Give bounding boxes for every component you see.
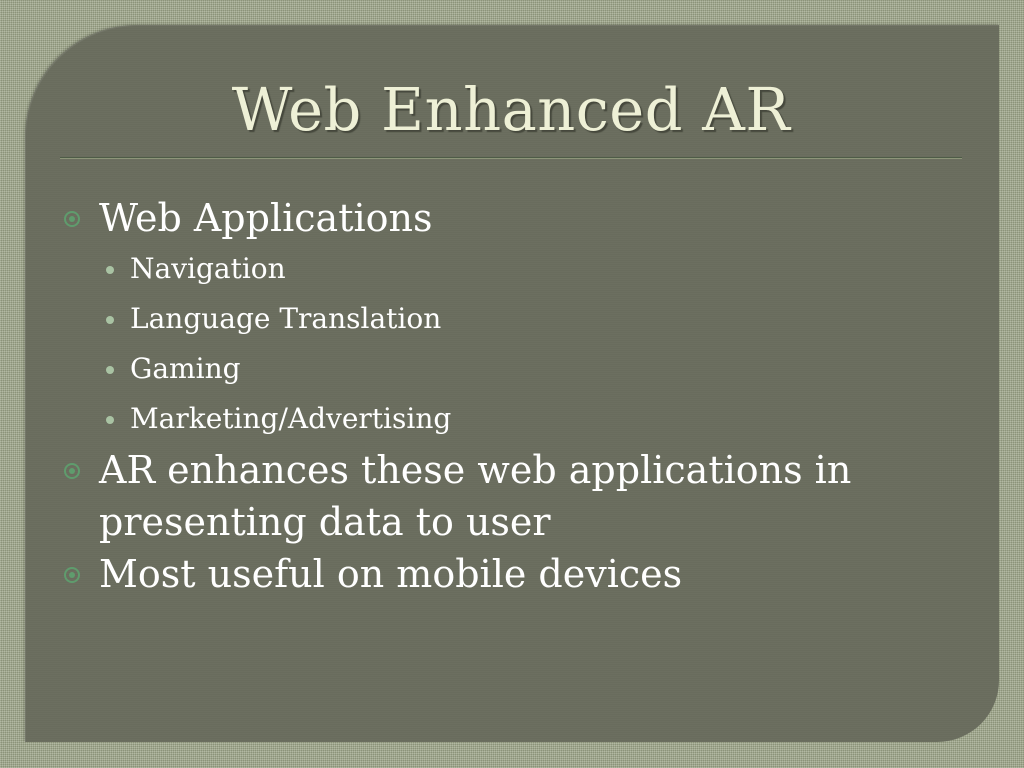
bullet-sublist: Navigation Language Translation Gaming M…	[60, 244, 965, 444]
bullet-level1-label: Most useful on mobile devices	[99, 552, 682, 596]
dot-bullet-icon	[106, 266, 114, 274]
bullet-level2: Language Translation	[98, 294, 965, 344]
dot-bullet-icon	[106, 366, 114, 374]
bullet-level1-label: AR enhances these web applications in pr…	[99, 448, 851, 544]
fisheye-bullet-icon	[64, 211, 80, 227]
bullet-level1: Web Applications	[60, 192, 965, 244]
fisheye-bullet-icon	[64, 463, 80, 479]
bullet-level1: Most useful on mobile devices	[60, 548, 965, 600]
bullet-level2: Marketing/Advertising	[98, 394, 965, 444]
dot-bullet-icon	[106, 416, 114, 424]
bullet-level2-label: Navigation	[130, 252, 286, 285]
presentation-slide: Web Enhanced AR Web Applications Navigat…	[0, 0, 1024, 768]
bullet-level2-label: Language Translation	[130, 302, 441, 335]
slide-title: Web Enhanced AR	[60, 78, 962, 142]
bullet-level1-label: Web Applications	[99, 196, 432, 240]
bullet-level2: Navigation	[98, 244, 965, 294]
bullet-level2-label: Marketing/Advertising	[130, 402, 451, 435]
dot-bullet-icon	[106, 316, 114, 324]
slide-body: Web Applications Navigation Language Tra…	[60, 192, 965, 600]
bullet-level2-label: Gaming	[130, 352, 241, 385]
bullet-level2: Gaming	[98, 344, 965, 394]
fisheye-bullet-icon	[64, 567, 80, 583]
bullet-level1: AR enhances these web applications in pr…	[60, 444, 965, 548]
title-divider	[60, 157, 962, 159]
